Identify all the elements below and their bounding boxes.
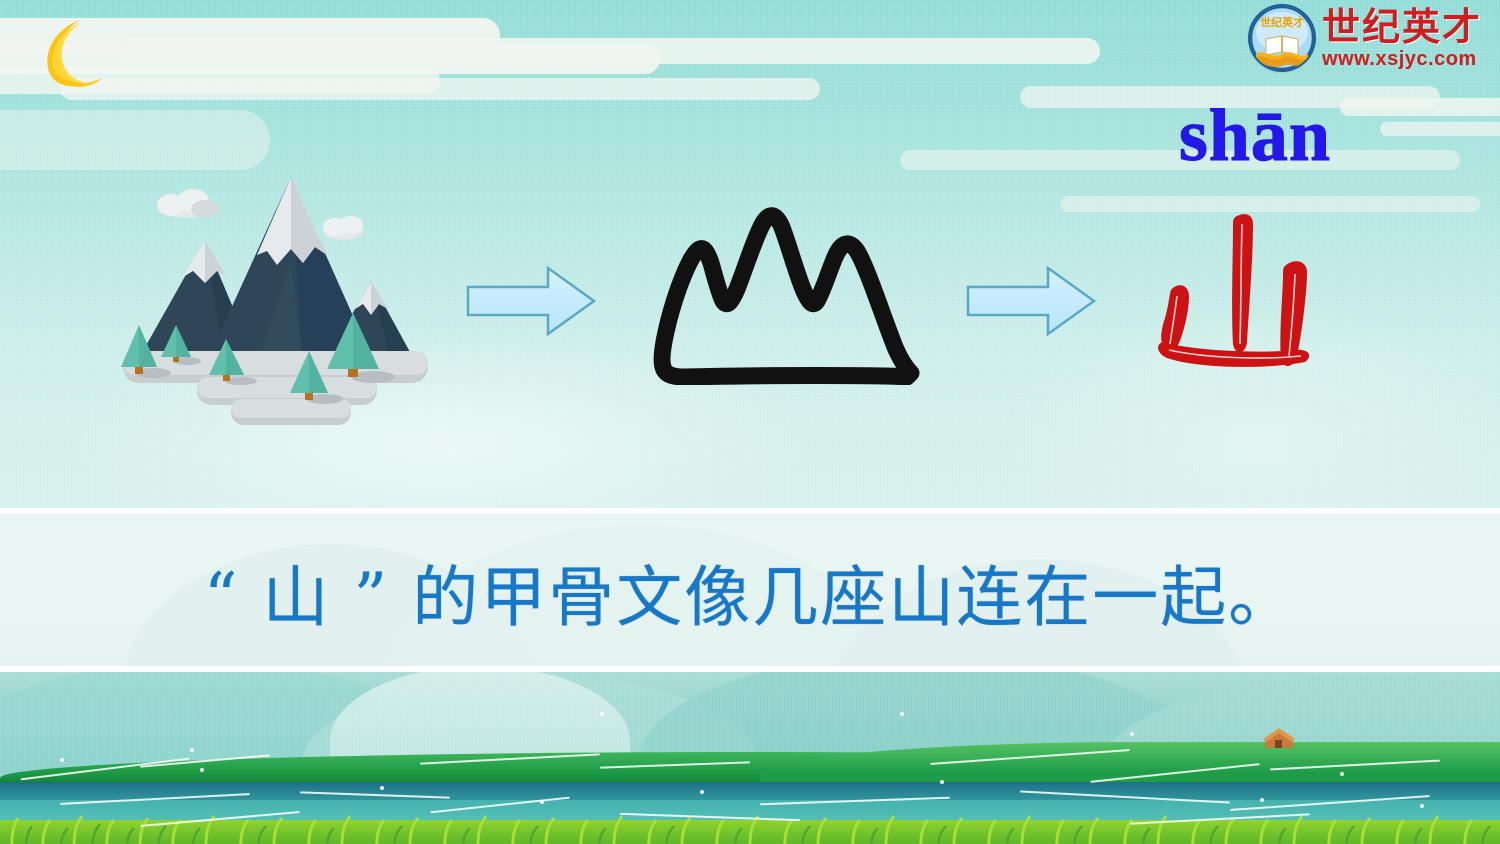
footer-landscape — [0, 672, 1500, 844]
cloud-band — [0, 110, 270, 170]
cloud-platform — [123, 351, 428, 425]
illustration-cloud — [157, 189, 219, 218]
logo-brand-name: 世纪英才 — [1322, 8, 1482, 46]
svg-text:世纪英才: 世纪英才 — [1260, 15, 1304, 29]
pinyin-label: shān — [1140, 96, 1370, 176]
right-arrow-icon — [962, 262, 1102, 340]
logo-url: www.xsjyc.com — [1322, 49, 1482, 69]
slide-canvas: 世纪英才 世纪英才 www.xsjyc.com — [0, 0, 1500, 844]
explanation-sentence: “ 山 ” 的甲骨文像几座山连在一起。 — [0, 514, 1500, 670]
oracle-bone-script-shan — [645, 195, 935, 385]
open-book-badge-icon: 世纪英才 — [1250, 6, 1314, 70]
cloud-band — [1380, 122, 1500, 136]
cloud-band — [60, 78, 820, 100]
cloud-band — [120, 38, 1100, 64]
crescent-moon-icon — [28, 14, 118, 94]
hanzi-character-shan — [1145, 198, 1345, 393]
brand-logo: 世纪英才 世纪英才 www.xsjyc.com — [1250, 6, 1482, 70]
hut-icon — [1262, 726, 1296, 748]
mountain-illustration — [105, 165, 440, 440]
illustration-cloud — [323, 216, 363, 240]
right-arrow-icon — [462, 262, 602, 340]
